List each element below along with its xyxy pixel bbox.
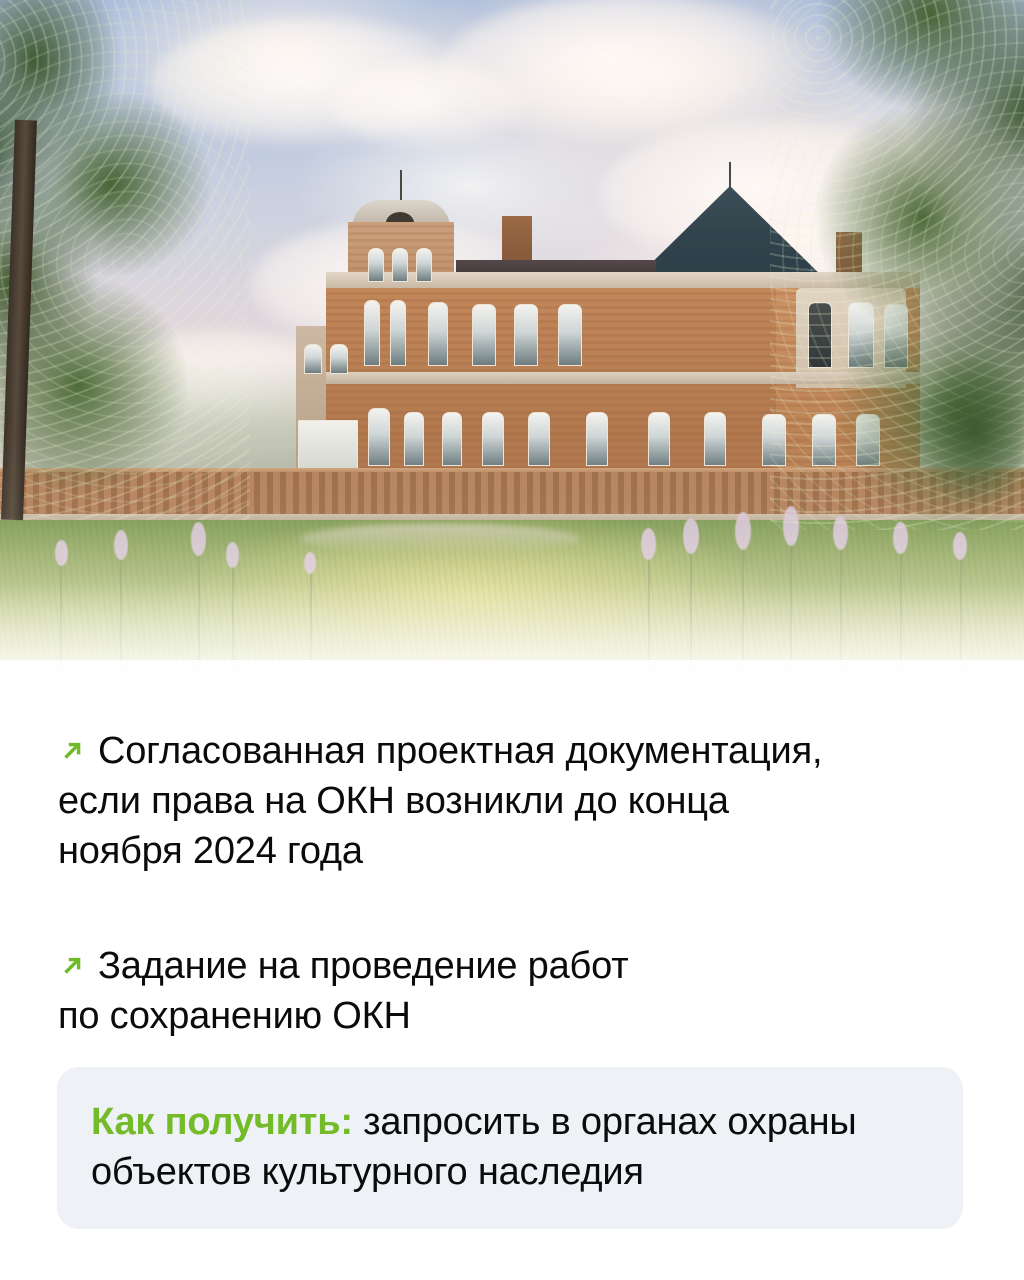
window bbox=[472, 304, 496, 366]
wildflower bbox=[953, 532, 967, 560]
hero-photo bbox=[0, 0, 1024, 710]
flower-stalk bbox=[60, 548, 62, 668]
window bbox=[368, 248, 384, 282]
flower-stalk bbox=[232, 552, 234, 672]
foliage-texture bbox=[0, 0, 250, 520]
bullet-item-2: Задание на проведение работ по сохранени… bbox=[58, 941, 968, 1041]
how-to-get-callout: Как получить: запросить в органах охраны… bbox=[57, 1067, 963, 1229]
flower-stalk bbox=[310, 560, 312, 660]
cloud bbox=[330, 60, 530, 150]
window bbox=[586, 412, 608, 466]
garden-path bbox=[300, 524, 580, 554]
wildflower bbox=[55, 540, 68, 566]
window bbox=[558, 304, 582, 366]
wildflower bbox=[191, 522, 206, 556]
window bbox=[442, 412, 462, 466]
wildflower bbox=[641, 528, 656, 560]
bullet-1-row: Согласованная проектная документация, ес… bbox=[58, 726, 968, 876]
arrow-up-right-icon bbox=[58, 737, 86, 765]
wildflower bbox=[735, 512, 751, 550]
window bbox=[390, 300, 406, 366]
window bbox=[304, 344, 322, 374]
bullet-2-text: Задание на проведение работ по сохранени… bbox=[58, 945, 628, 1037]
flower-stalk bbox=[648, 540, 650, 675]
window bbox=[528, 412, 550, 466]
bullet-2-row: Задание на проведение работ по сохранени… bbox=[58, 941, 968, 1041]
flower-stalk bbox=[840, 530, 842, 670]
photo-scene bbox=[0, 0, 1024, 710]
window bbox=[404, 412, 424, 466]
content-area: Согласованная проектная документация, ес… bbox=[0, 710, 1024, 1280]
turret-spire bbox=[729, 162, 731, 190]
flower-stalk bbox=[960, 544, 962, 669]
wildflower bbox=[304, 552, 316, 574]
window bbox=[648, 412, 670, 466]
window bbox=[330, 344, 348, 374]
window bbox=[428, 302, 448, 366]
infographic-card: Согласованная проектная документация, ес… bbox=[0, 0, 1024, 1280]
arrow-up-right-icon bbox=[58, 952, 86, 980]
wildflower bbox=[683, 518, 699, 554]
flower-stalk bbox=[900, 536, 902, 671]
tree-branch bbox=[915, 330, 1024, 530]
window bbox=[368, 408, 390, 466]
callout-text: Как получить: запросить в органах охраны… bbox=[91, 1097, 941, 1197]
wildflower bbox=[114, 530, 128, 560]
window bbox=[364, 300, 380, 366]
window bbox=[704, 412, 726, 466]
window bbox=[514, 304, 538, 366]
tree-left bbox=[0, 0, 250, 520]
tower-spire bbox=[400, 170, 402, 204]
callout-lead-label: Как получить: bbox=[91, 1101, 353, 1143]
window bbox=[392, 248, 408, 282]
window bbox=[416, 248, 432, 282]
bullet-item-1: Согласованная проектная документация, ес… bbox=[58, 726, 968, 876]
flower-stalk bbox=[742, 528, 744, 678]
window bbox=[482, 412, 504, 466]
wildflower bbox=[226, 542, 239, 568]
bullet-1-text: Согласованная проектная документация, ес… bbox=[58, 730, 822, 872]
